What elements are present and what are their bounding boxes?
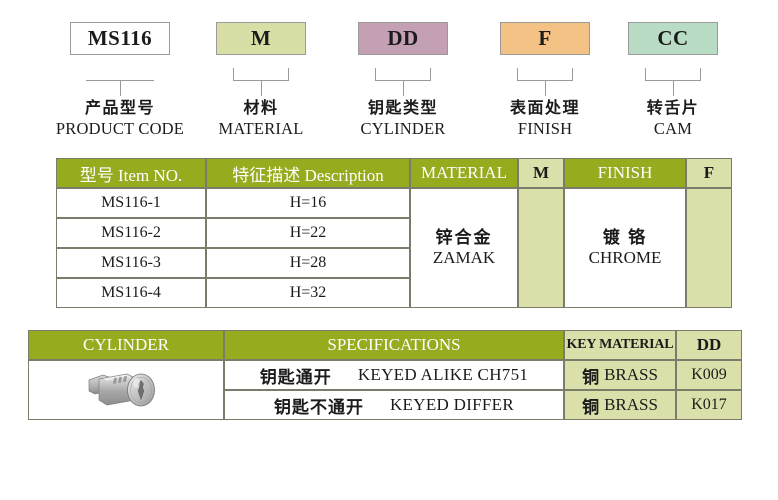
t1-finish-code-column: [686, 188, 732, 308]
t1-header-material-code: M: [518, 158, 564, 188]
t2-row-0-key-material-cn: 铜: [582, 363, 599, 388]
caption-product-code-cn: 产品型号: [40, 100, 200, 119]
t1-row-2-item-no: MS116-3: [56, 248, 206, 278]
t1-row-1-description: H=22: [206, 218, 410, 248]
cam-lock-cylinder-icon: [83, 367, 169, 413]
t1-row-1-item-no-label: MS116-2: [101, 224, 161, 242]
t2-header-code: DD: [676, 330, 742, 360]
t2-row-1-key-material-cn: 铜: [582, 393, 599, 418]
code-box-finish-label: F: [538, 26, 551, 51]
t1-header-finish-code-label: F: [704, 163, 714, 183]
caption-cylinder-en: CYLINDER: [340, 119, 466, 138]
caption-finish: 表面处理 FINISH: [484, 100, 606, 138]
caption-material-cn: 材料: [201, 100, 321, 119]
t1-material-code-column: [518, 188, 564, 308]
caption-cam-en: CAM: [613, 119, 733, 138]
t2-row-0-key-material: 铜 BRASS: [564, 360, 676, 390]
t1-row-1-item-no: MS116-2: [56, 218, 206, 248]
connector-finish: [517, 68, 573, 98]
connector-cam: [645, 68, 701, 98]
t1-header-description: 特征描述 Description: [206, 158, 410, 188]
t1-material-value-en: ZAMAK: [433, 248, 495, 268]
t2-product-image-cell: [28, 360, 224, 420]
t1-header-finish-label: FINISH: [598, 163, 653, 183]
t1-header-item-no-label: 型号 Item NO.: [80, 161, 182, 186]
code-box-product-label: MS116: [88, 26, 152, 51]
t1-row-1-description-label: H=22: [290, 224, 327, 242]
caption-finish-cn: 表面处理: [484, 100, 606, 119]
t1-row-2-description-label: H=28: [290, 254, 327, 272]
t1-material-value: 锌合金 ZAMAK: [410, 188, 518, 308]
t2-row-0-specifications: 钥匙通开 KEYED ALIKE CH751: [224, 360, 564, 390]
t1-header-finish-code: F: [686, 158, 732, 188]
caption-material-en: MATERIAL: [201, 119, 321, 138]
t2-row-1-code-label: K017: [691, 396, 727, 414]
t1-header-material: MATERIAL: [410, 158, 518, 188]
t1-row-3-description-label: H=32: [290, 284, 327, 302]
t1-finish-value-en: CHROME: [589, 248, 662, 268]
t2-row-1-spec-en: KEYED DIFFER: [390, 395, 514, 415]
caption-cam-cn: 转舌片: [613, 100, 733, 119]
t2-row-0-key-material-en: BRASS: [604, 365, 658, 385]
t1-header-description-label: 特征描述 Description: [232, 161, 384, 186]
t2-row-1-specifications: 钥匙不通开 KEYED DIFFER: [224, 390, 564, 420]
t1-finish-value: 镀 铬 CHROME: [564, 188, 686, 308]
t1-row-3-item-no-label: MS116-4: [101, 284, 161, 302]
t2-row-1-code: K017: [676, 390, 742, 420]
code-box-material: M: [216, 22, 306, 55]
code-box-cam: CC: [628, 22, 718, 55]
t1-header-finish: FINISH: [564, 158, 686, 188]
code-box-product: MS116: [70, 22, 170, 55]
t2-row-1-spec-cn: 钥匙不通开: [274, 393, 364, 418]
code-box-cylinder-label: DD: [387, 26, 418, 51]
t2-header-code-label: DD: [697, 335, 722, 355]
t2-row-0-spec-en: KEYED ALIKE CH751: [358, 365, 528, 385]
connector-product: [86, 68, 154, 98]
t1-header-material-code-label: M: [533, 163, 549, 183]
t1-row-2-description: H=28: [206, 248, 410, 278]
t1-row-0-description-label: H=16: [290, 194, 327, 212]
caption-material: 材料 MATERIAL: [201, 100, 321, 138]
t2-header-cylinder: CYLINDER: [28, 330, 224, 360]
t1-row-3-item-no: MS116-4: [56, 278, 206, 308]
caption-product-code: 产品型号 PRODUCT CODE: [40, 100, 200, 138]
t1-header-material-label: MATERIAL: [421, 163, 507, 183]
caption-product-code-en: PRODUCT CODE: [40, 119, 200, 138]
t2-row-0-code: K009: [676, 360, 742, 390]
caption-finish-en: FINISH: [484, 119, 606, 138]
t2-row-1-key-material-en: BRASS: [604, 395, 658, 415]
t2-header-key-material: KEY MATERIAL: [564, 330, 676, 360]
code-box-finish: F: [500, 22, 590, 55]
caption-cam: 转舌片 CAM: [613, 100, 733, 138]
t1-row-0-item-no-label: MS116-1: [101, 194, 161, 212]
caption-cylinder: 钥匙类型 CYLINDER: [340, 100, 466, 138]
connector-cylinder: [375, 68, 431, 98]
code-box-material-label: M: [251, 26, 271, 51]
code-box-cylinder: DD: [358, 22, 448, 55]
caption-cylinder-cn: 钥匙类型: [340, 100, 466, 119]
t2-row-1-key-material: 铜 BRASS: [564, 390, 676, 420]
code-box-cam-label: CC: [657, 26, 688, 51]
t1-row-0-description: H=16: [206, 188, 410, 218]
t1-row-2-item-no-label: MS116-3: [101, 254, 161, 272]
spec-sheet: MS116 M DD F CC 产品型号 PRODUCT CODE 材料 MAT…: [0, 0, 778, 500]
t2-header-key-material-label: KEY MATERIAL: [567, 337, 674, 353]
connector-material: [233, 68, 289, 98]
t1-row-3-description: H=32: [206, 278, 410, 308]
t2-row-0-spec-cn: 钥匙通开: [260, 363, 332, 388]
t2-header-specifications: SPECIFICATIONS: [224, 330, 564, 360]
t2-header-cylinder-label: CYLINDER: [83, 335, 169, 355]
t1-header-item-no: 型号 Item NO.: [56, 158, 206, 188]
t1-material-value-cn: 锌合金: [436, 228, 493, 248]
t1-row-0-item-no: MS116-1: [56, 188, 206, 218]
t1-finish-value-cn: 镀 铬: [603, 228, 647, 248]
t2-header-specifications-label: SPECIFICATIONS: [327, 335, 460, 355]
t2-row-0-code-label: K009: [691, 366, 727, 384]
